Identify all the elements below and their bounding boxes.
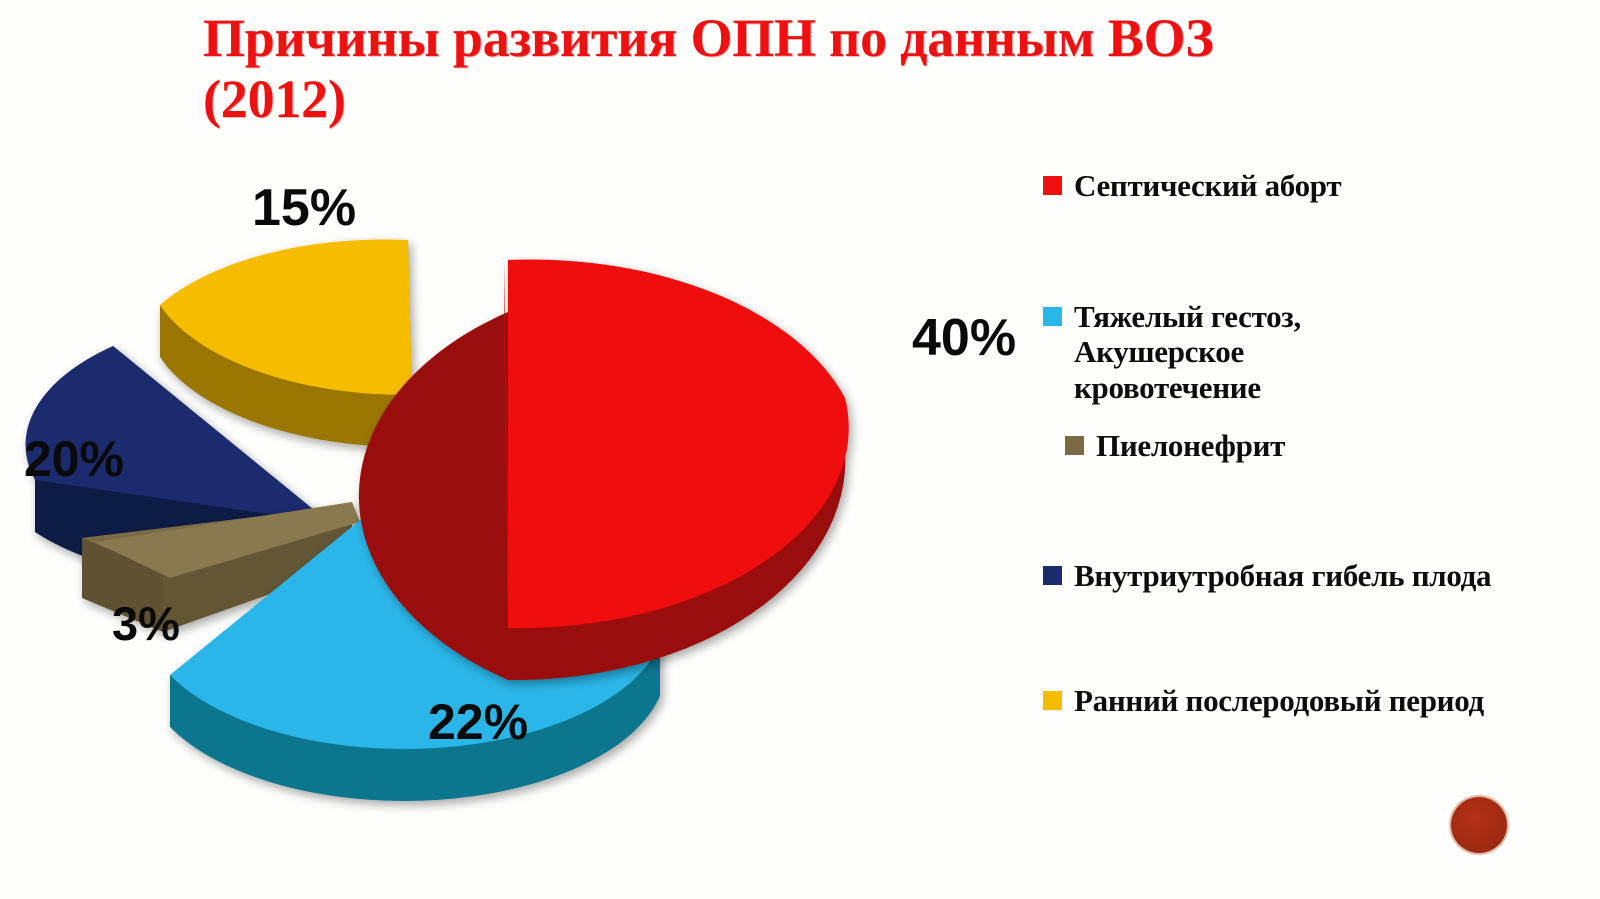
decorative-red-circle-icon [1451,797,1507,853]
legend-item-label: Тяжелый гестоз, Акушерское кровотечение [1074,299,1373,405]
legend-item-label: Внутриутробная гибель плода [1074,558,1491,593]
pie-slice-red[interactable] [359,260,849,681]
pie-label-navy: 20% [24,434,124,484]
legend-item-septic-abortion[interactable]: Септический аборт [1043,168,1343,203]
legend-swatch-icon [1043,307,1062,326]
legend-swatch-icon [1065,436,1084,455]
legend-swatch-icon [1043,691,1062,710]
page-title: Причины развития ОПН по данным ВОЗ (2012… [203,8,1343,130]
legend-item-early-postpartum-period[interactable]: Ранний послеродовый период [1043,683,1493,718]
pie-label-brown: 3% [112,600,180,647]
legend-item-severe-gestosis[interactable]: Тяжелый гестоз, Акушерское кровотечение [1043,299,1373,405]
legend-item-label: Пиелонефрит [1096,428,1285,463]
legend-item-label: Септический аборт [1074,168,1341,203]
pie-label-gold: 15% [252,182,356,234]
pie-label-cyan: 22% [428,697,528,747]
pie-label-red: 40% [912,312,1016,364]
legend-swatch-icon [1043,176,1062,195]
legend-swatch-icon [1043,566,1062,585]
legend-item-label: Ранний послеродовый период [1074,683,1484,718]
legend-item-pyelonephritis[interactable]: Пиелонефрит [1065,428,1335,463]
legend-item-intrauterine-fetal-death[interactable]: Внутриутробная гибель плода [1043,558,1513,593]
